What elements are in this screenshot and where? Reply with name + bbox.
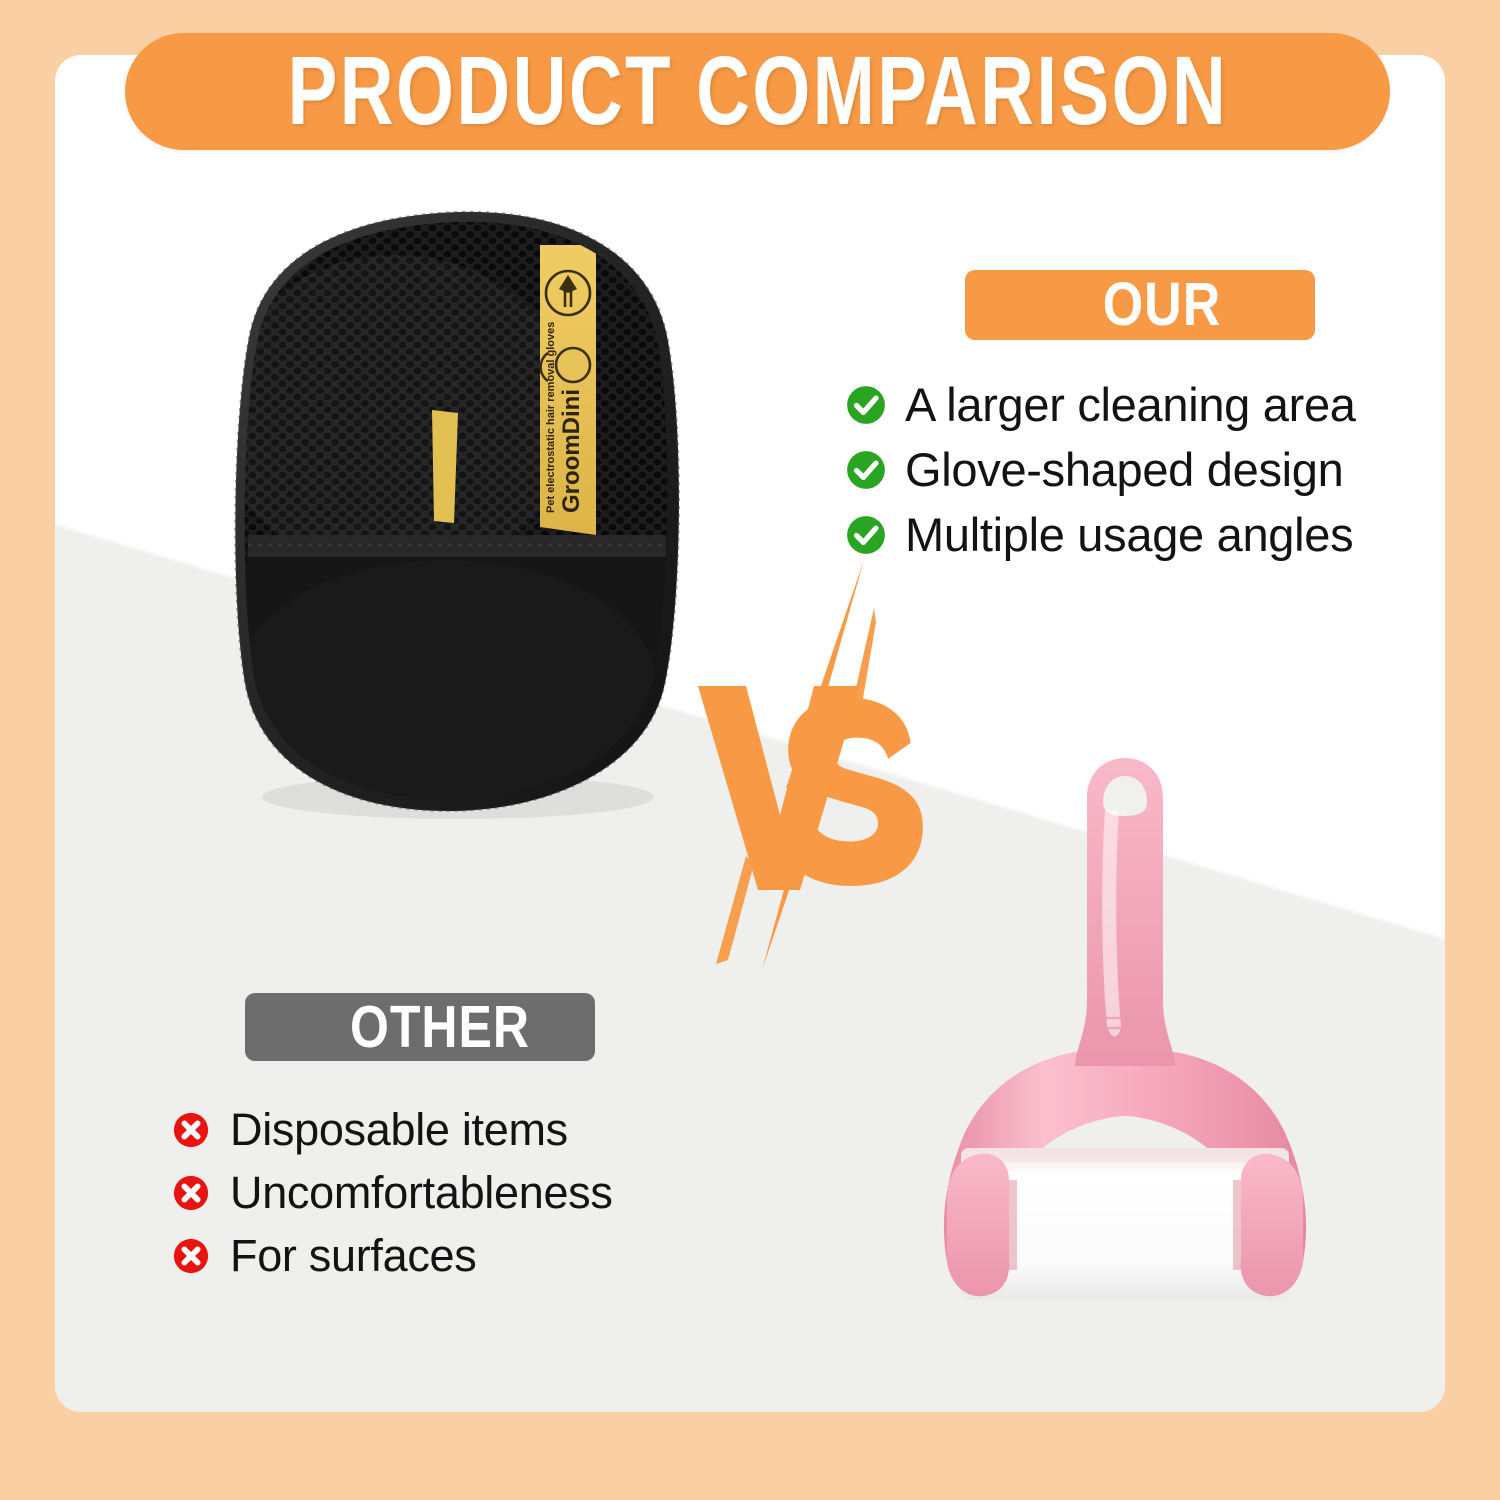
infographic-canvas: GroomDini Pet electrostatic hair removal…: [0, 0, 1500, 1500]
green-check-icon: [845, 449, 887, 491]
product-tagline-text: Pet electrostatic hair removal gloves: [545, 322, 557, 513]
list-item: Glove-shaped design: [845, 437, 1356, 502]
red-cross-icon: [172, 1237, 210, 1275]
product-label: GroomDini Pet electrostatic hair removal…: [540, 245, 596, 535]
roller-end-cap-left: [947, 1154, 1009, 1296]
green-check-icon: [845, 384, 887, 426]
list-item: For surfaces: [172, 1224, 613, 1287]
list-item-label: For surfaces: [230, 1230, 476, 1282]
roller-end-cap-right: [1241, 1154, 1303, 1296]
list-item: Disposable items: [172, 1098, 613, 1161]
our-product-image: GroomDini Pet electrostatic hair removal…: [196, 205, 706, 825]
other-product-image: [925, 750, 1325, 1330]
page-title: PRODUCT COMPARISON: [125, 33, 1390, 150]
our-feature-list: A larger cleaning area Glove-shaped desi…: [845, 372, 1356, 567]
product-brand-text: GroomDini: [558, 389, 585, 513]
list-item-label: Uncomfortableness: [230, 1167, 613, 1219]
green-check-icon: [845, 514, 887, 556]
list-item-label: Disposable items: [230, 1104, 568, 1156]
glove-pull-tab: [432, 410, 458, 523]
list-item-label: Multiple usage angles: [905, 507, 1353, 562]
list-item-label: A larger cleaning area: [905, 377, 1356, 432]
versus-graphic: [688, 560, 938, 970]
our-section-badge: OUR: [965, 270, 1315, 340]
list-item: Multiple usage angles: [845, 502, 1356, 567]
red-cross-icon: [172, 1174, 210, 1212]
red-cross-icon: [172, 1111, 210, 1149]
list-item: Uncomfortableness: [172, 1161, 613, 1224]
other-section-badge: OTHER: [245, 993, 595, 1061]
list-item: A larger cleaning area: [845, 372, 1356, 437]
our-section-badge-label: OUR: [1059, 270, 1222, 341]
other-section-badge-label: OTHER: [310, 993, 530, 1061]
list-item-label: Glove-shaped design: [905, 442, 1343, 497]
other-feature-list: Disposable items Uncomfortableness For s…: [172, 1098, 613, 1287]
page-title-text: PRODUCT COMPARISON: [287, 36, 1228, 147]
